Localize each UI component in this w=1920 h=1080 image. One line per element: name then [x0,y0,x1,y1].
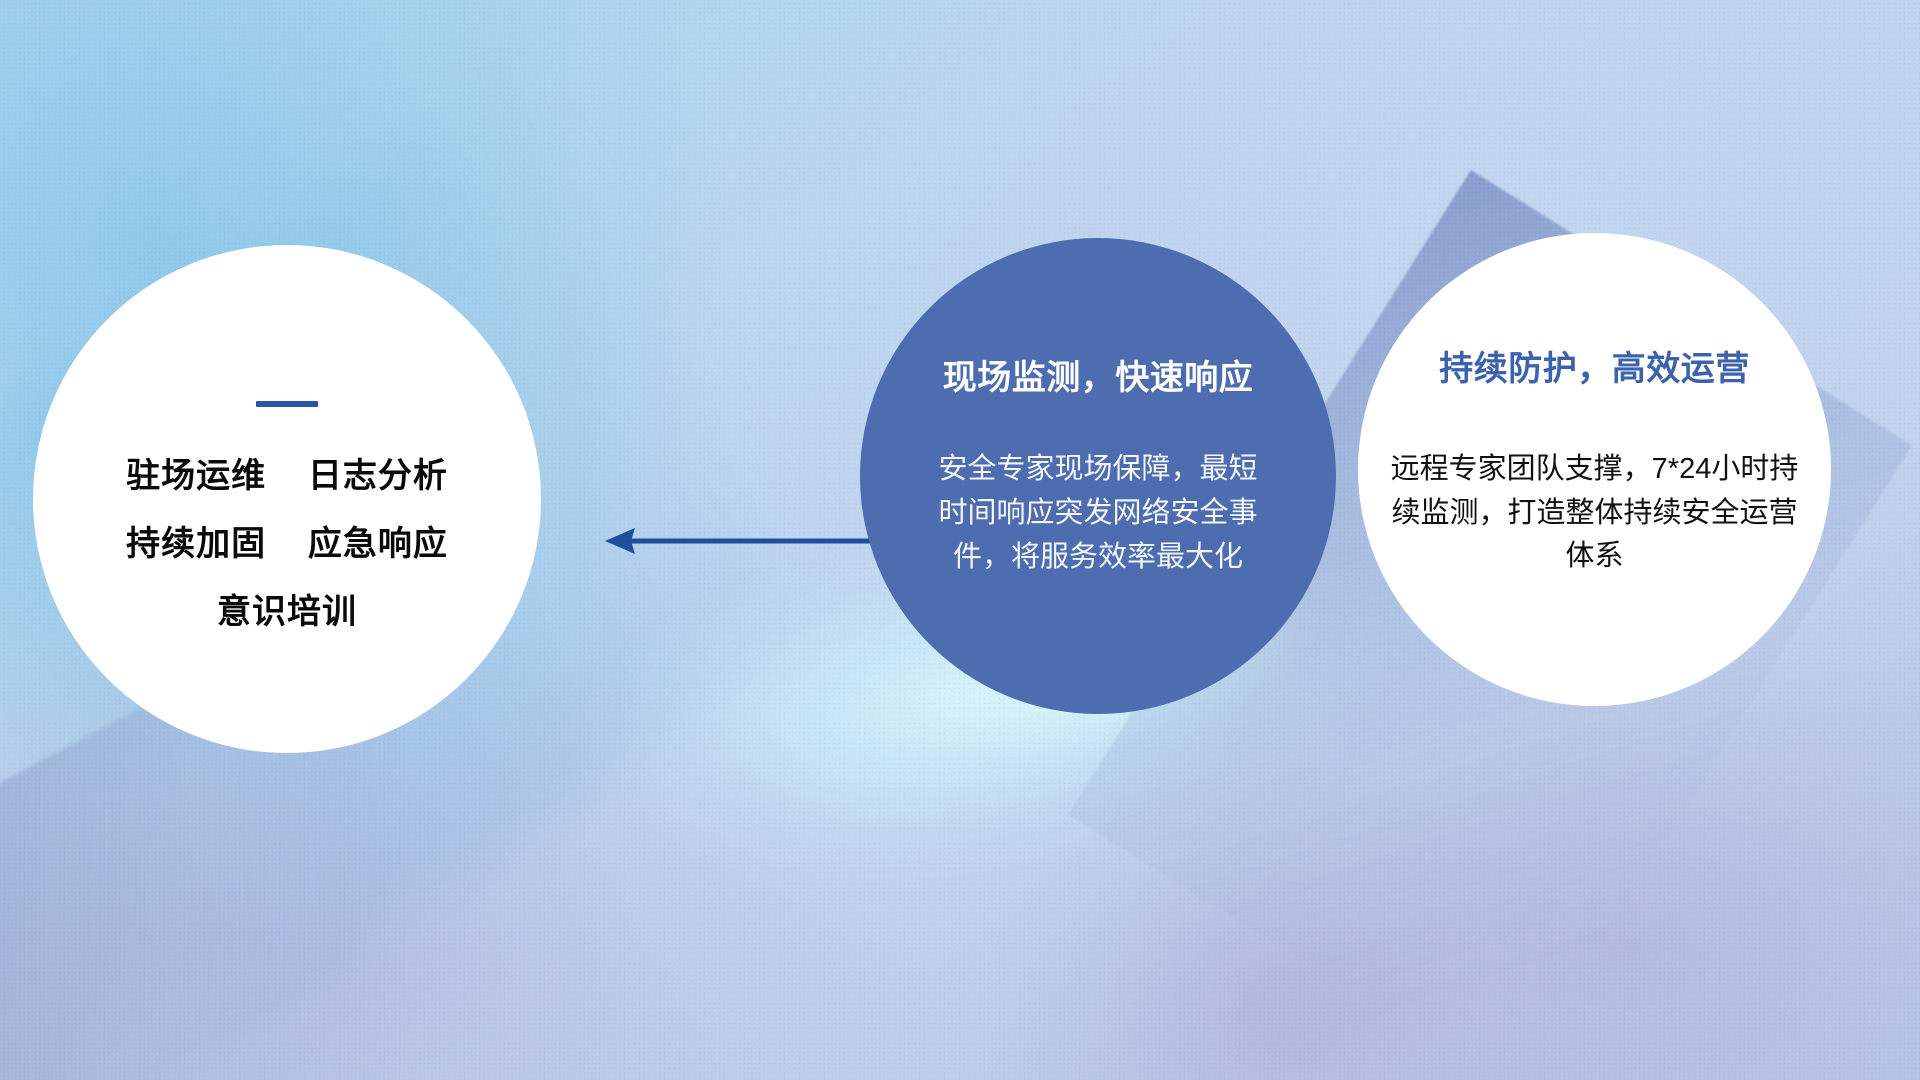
connector-arrow [595,516,885,566]
capability-list: 驻场运维 日志分析 持续加固 应急响应 意识培训 [33,459,541,629]
middle-circle-description: 安全专家现场保障，最短时间响应突发网络安全事件，将服务效率最大化 [933,447,1263,579]
right-circle-description: 远程专家团队支撑，7*24小时持续监测，打造整体持续安全运营体系 [1390,448,1800,579]
capability-circle-left[interactable]: 驻场运维 日志分析 持续加固 应急响应 意识培训 [33,245,541,753]
list-item: 意识培训 [33,595,541,629]
capability-circle-right[interactable]: 持续防护，高效运营 远程专家团队支撑，7*24小时持续监测，打造整体持续安全运营… [1358,233,1831,706]
right-circle-title: 持续防护，高效运营 [1439,341,1750,390]
capability-circle-right-content: 持续防护，高效运营 远程专家团队支撑，7*24小时持续监测，打造整体持续安全运营… [1358,233,1831,706]
arrow-left-icon [595,516,885,566]
slide-canvas: 驻场运维 日志分析 持续加固 应急响应 意识培训 现场监测，快速响应 安全专家现… [0,0,1920,1080]
list-item: 驻场运维 日志分析 [33,459,541,493]
capability-circle-left-content: 驻场运维 日志分析 持续加固 应急响应 意识培训 [33,245,541,753]
middle-circle-title: 现场监测，快速响应 [943,350,1254,399]
capability-circle-middle-overlay: 现场监测，快速响应 安全专家现场保障，最短时间响应突发网络安全事件，将服务效率最… [860,238,1336,714]
capability-circle-middle-content: 现场监测，快速响应 安全专家现场保障，最短时间响应突发网络安全事件，将服务效率最… [860,238,1336,714]
horizontal-dash-accent-icon [256,401,318,407]
list-item: 持续加固 应急响应 [33,527,541,561]
